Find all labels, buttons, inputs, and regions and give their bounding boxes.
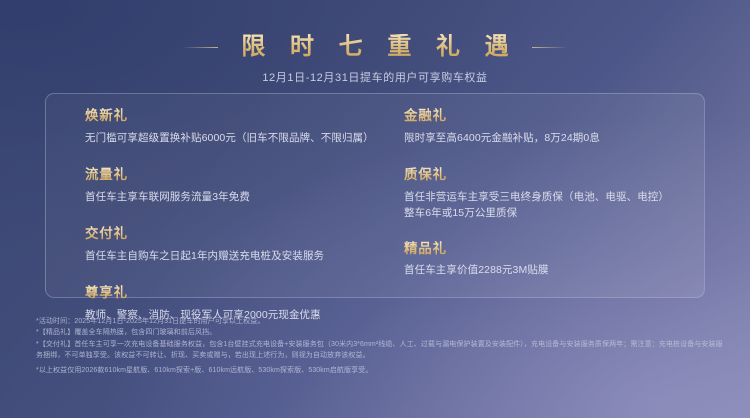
benefit-item-jiaofuli: 交付礼 首任车主自购车之日起1年内赠送充电桩及安装服务 [85, 226, 415, 264]
benefit-title: 尊享礼 [85, 285, 415, 302]
benefit-item-huanxinli: 焕新礼 无门槛可享超级置换补贴6000元（旧车不限品牌、不限归属） [85, 108, 415, 146]
footnote-eligible-models: *以上权益仅用2026款610km星航版、610km探索+版、610km远航版、… [36, 365, 726, 376]
benefits-panel: 焕新礼 无门槛可享超级置换补贴6000元（旧车不限品牌、不限归属） 流量礼 首任… [45, 93, 705, 298]
benefit-description-line: 整车6年或15万公里质保 [404, 205, 694, 221]
benefit-description-line: 限时享至高6400元金融补贴，8万24期0息 [404, 130, 694, 146]
page-subtitle: 12月1日-12月31日提车的用户可享购车权益 [0, 69, 750, 85]
footnote-activity-period: *活动时间：2025年12月1日-2025年12月31日提车的用户可享以上权益。 [36, 316, 726, 327]
benefit-description: 无门槛可享超级置换补贴6000元（旧车不限品牌、不限归属） [85, 130, 415, 146]
footnote-jingpinli: *【精品礼】覆盖全车隔热膜，包含四门玻璃和前后风挡。 [36, 327, 726, 338]
benefit-description-line: 首任车主享价值2288元3M贴膜 [404, 262, 694, 278]
title-row: 限 时 七 重 礼 遇 [0, 34, 750, 60]
benefit-description-line: 首任车主自购车之日起1年内赠送充电桩及安装服务 [85, 248, 415, 264]
benefits-column-left: 焕新礼 无门槛可享超级置换补贴6000元（旧车不限品牌、不限归属） 流量礼 首任… [85, 108, 415, 345]
benefit-item-zhibaoli: 质保礼 首任非营运车主享受三电终身质保（电池、电驱、电控） 整车6年或15万公里… [404, 167, 694, 221]
benefit-description: 首任车主享车联网服务流量3年免费 [85, 189, 415, 205]
benefit-description-line: 首任车主享车联网服务流量3年免费 [85, 189, 415, 205]
benefit-title: 交付礼 [85, 226, 415, 243]
footnotes: *活动时间：2025年12月1日-2025年12月31日提车的用户可享以上权益。… [36, 316, 726, 376]
benefit-description-line: 无门槛可享超级置换补贴6000元（旧车不限品牌、不限归属） [85, 130, 415, 146]
benefit-item-jinrongli: 金融礼 限时享至高6400元金融补贴，8万24期0息 [404, 108, 694, 146]
benefit-title: 流量礼 [85, 167, 415, 184]
promo-poster: 限 时 七 重 礼 遇 12月1日-12月31日提车的用户可享购车权益 焕新礼 … [0, 0, 750, 418]
benefit-description: 限时享至高6400元金融补贴，8万24期0息 [404, 130, 694, 146]
benefit-description-line: 首任非营运车主享受三电终身质保（电池、电驱、电控） [404, 189, 694, 205]
benefits-column-right: 金融礼 限时享至高6400元金融补贴，8万24期0息 质保礼 首任非营运车主享受… [404, 108, 694, 300]
page-title: 限 时 七 重 礼 遇 [232, 34, 517, 60]
benefit-title: 质保礼 [404, 167, 694, 184]
benefit-description: 首任车主自购车之日起1年内赠送充电桩及安装服务 [85, 248, 415, 264]
benefit-item-jingpinli: 精品礼 首任车主享价值2288元3M贴膜 [404, 241, 694, 279]
poster-header: 限 时 七 重 礼 遇 12月1日-12月31日提车的用户可享购车权益 [0, 34, 750, 85]
benefit-item-liulianli: 流量礼 首任车主享车联网服务流量3年免费 [85, 167, 415, 205]
benefits-columns: 焕新礼 无门槛可享超级置换补贴6000元（旧车不限品牌、不限归属） 流量礼 首任… [46, 94, 704, 297]
benefit-title: 精品礼 [404, 241, 694, 258]
footnote-jiaofuli: *【交付礼】首任车主可享一次充电设备基础服务权益，包含1台壁挂式充电设备+安装服… [36, 339, 726, 362]
benefit-description: 首任非营运车主享受三电终身质保（电池、电驱、电控） 整车6年或15万公里质保 [404, 189, 694, 222]
horizontal-rule-icon-left [184, 47, 218, 48]
benefit-title: 焕新礼 [85, 108, 415, 125]
horizontal-rule-icon-right [532, 47, 566, 48]
benefit-description: 首任车主享价值2288元3M贴膜 [404, 262, 694, 278]
benefit-title: 金融礼 [404, 108, 694, 125]
